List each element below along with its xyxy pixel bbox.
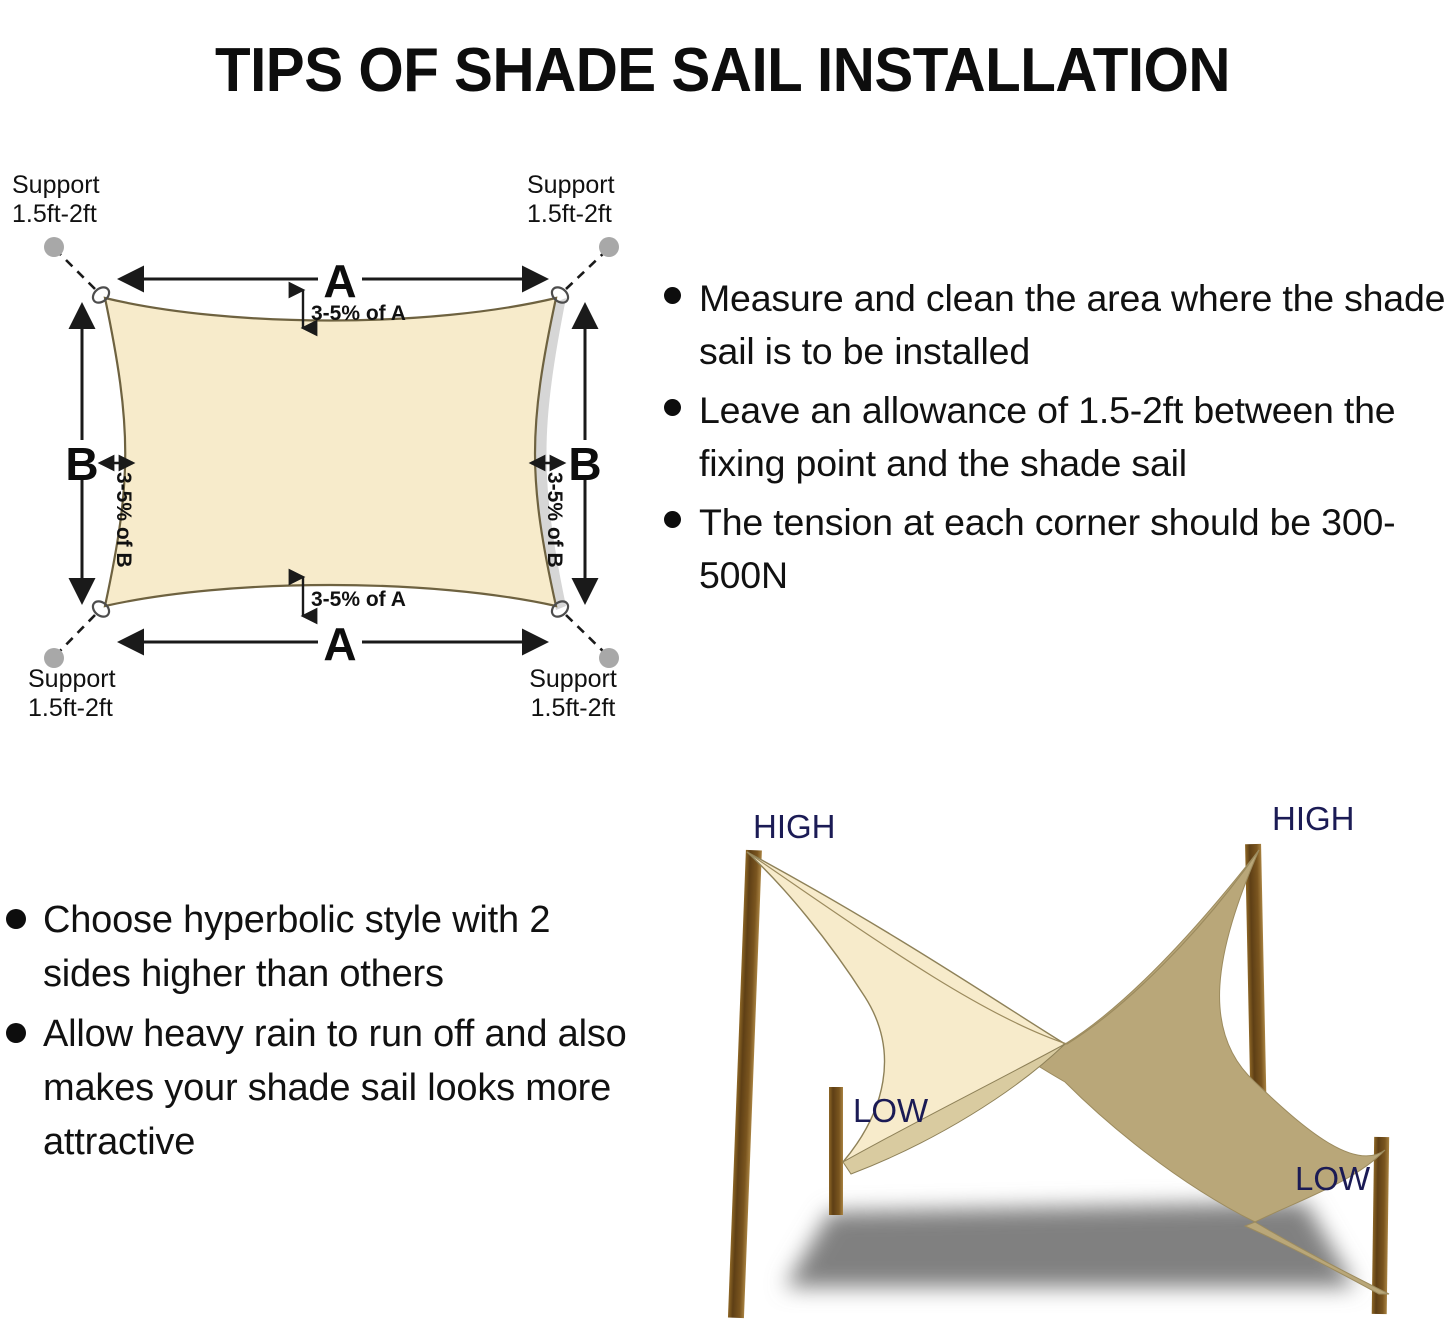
rectangular-sail-diagram: A 3-5% of A A 3-5% of A B 3-5% of B B 3-…	[0, 150, 660, 730]
dimension-label-bottom-a: A	[323, 618, 356, 670]
post-low-left	[829, 1087, 843, 1215]
label-high-right: HIGH	[1272, 800, 1355, 837]
label-low-right: LOW	[1295, 1160, 1371, 1197]
list-item: Allow heavy rain to run off and also mak…	[0, 1007, 630, 1169]
curve-label-top: 3-5% of A	[311, 302, 406, 325]
support-label-bottom-left-line2: 1.5ft-2ft	[28, 694, 113, 722]
list-item: The tension at each corner should be 300…	[650, 496, 1445, 602]
support-label-bottom-right-line1: Support	[529, 665, 617, 693]
label-low-left: LOW	[853, 1092, 929, 1129]
bullet-dot-icon	[6, 1023, 26, 1043]
support-label-top-left-line2: 1.5ft-2ft	[12, 200, 97, 228]
list-item: Leave an allowance of 1.5-2ft between th…	[650, 384, 1445, 490]
hyperbolic-sail-diagram: HIGH HIGH LOW LOW	[655, 782, 1445, 1319]
list-item-label: The tension at each corner should be 300…	[699, 496, 1445, 602]
bullet-dot-icon	[664, 399, 681, 416]
list-item: Choose hyperbolic style with 2 sides hig…	[0, 893, 630, 1001]
installation-tips-secondary-list: Choose hyperbolic style with 2 sides hig…	[0, 893, 630, 1175]
list-item-label: Choose hyperbolic style with 2 sides hig…	[43, 893, 630, 1001]
sail-body	[105, 298, 556, 606]
bullet-dot-icon	[664, 287, 681, 304]
list-item-label: Measure and clean the area where the sha…	[699, 272, 1445, 378]
curve-label-bottom: 3-5% of A	[311, 588, 406, 611]
dimension-label-top-a: A	[323, 255, 356, 307]
curve-label-left: 3-5% of B	[112, 472, 135, 568]
support-label-top-right-line1: Support	[527, 171, 615, 199]
list-item: Measure and clean the area where the sha…	[650, 272, 1445, 378]
support-label-bottom-left-line1: Support	[28, 665, 116, 693]
page-title: TIPS OF SHADE SAIL INSTALLATION	[43, 40, 1401, 102]
bullet-dot-icon	[6, 909, 26, 929]
post-high-left	[728, 850, 762, 1318]
support-label-top-right-line2: 1.5ft-2ft	[527, 200, 612, 228]
dimension-label-right-b: B	[568, 438, 601, 490]
bullet-dot-icon	[664, 511, 681, 528]
curve-label-right: 3-5% of B	[543, 472, 566, 568]
support-label-bottom-right-line2: 1.5ft-2ft	[531, 694, 616, 722]
dimension-label-left-b: B	[65, 438, 98, 490]
support-label-top-left-line1: Support	[12, 171, 100, 199]
installation-tips-primary-list: Measure and clean the area where the sha…	[650, 272, 1445, 608]
list-item-label: Leave an allowance of 1.5-2ft between th…	[699, 384, 1445, 490]
label-high-left: HIGH	[753, 808, 836, 845]
list-item-label: Allow heavy rain to run off and also mak…	[43, 1007, 630, 1169]
